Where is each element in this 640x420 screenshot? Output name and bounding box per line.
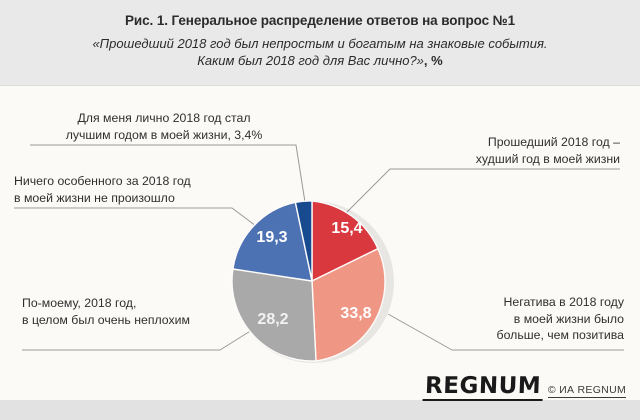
chart-canvas: Рис. 1. Генеральное распределение ответо… [0,0,640,420]
callout-more-negative: Негатива в 2018 году в моей жизни было б… [404,294,624,344]
subtitle-percent-sign: , % [424,53,443,68]
logo-wordmark: REGNUM [423,374,544,401]
leader-line-worst-year [345,169,620,214]
regnum-logo: REGNUM © ИА REGNUM [423,374,626,401]
slice-value-nothing-special: 19,3 [256,229,287,246]
subtitle-line-2: Каким был 2018 год для Вас лично?» [197,53,424,68]
page-title: Рис. 1. Генеральное распределение ответо… [0,13,640,28]
slice-value-quite-good: 28,2 [257,311,288,328]
figure-subtitle: «Прошедший 2018 год был непростым и бога… [48,35,592,69]
header-band: Рис. 1. Генеральное распределение ответо… [0,0,640,86]
slice-value-worst-year: 15,4 [331,220,362,237]
callout-nothing-special: Ничего особенного за 2018 год в моей жиз… [14,173,258,206]
leader-line-nothing-special [14,208,256,226]
callout-best-year: Для меня лично 2018 год стал лучшим годо… [28,110,300,143]
subtitle-line-1: «Прошедший 2018 год был непростым и бога… [92,36,547,51]
callout-quite-good: По-моему, 2018 год, в целом был очень не… [22,295,244,328]
logo-copyright: © ИА REGNUM [548,384,626,398]
slice-value-more-negative: 33,8 [340,305,371,322]
leader-line-quite-good [22,330,252,350]
footer-band [0,400,640,420]
callout-worst-year: Прошедший 2018 год – худший год в моей ж… [378,134,620,167]
